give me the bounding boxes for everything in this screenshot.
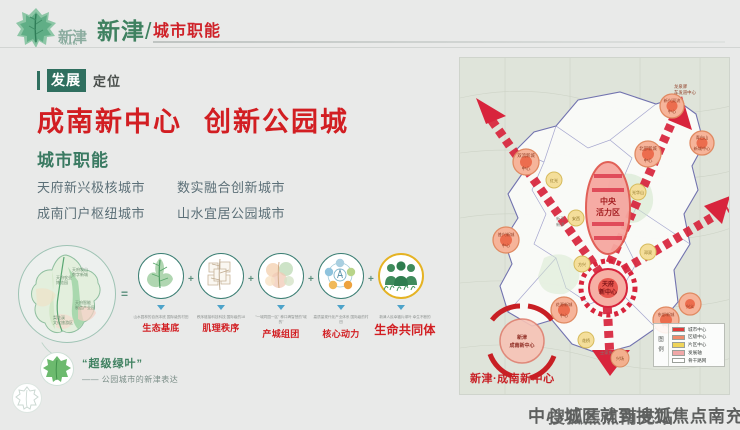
svg-text:新中心: 新中心	[599, 288, 617, 296]
legend-item: 片区中心	[672, 342, 722, 349]
node-caption: 秩序链接科技科技 国际级的18 肌理秩序	[193, 315, 249, 334]
svg-text:安西: 安西	[572, 215, 580, 221]
header-divider	[0, 47, 740, 48]
function-item: 成南门户枢纽城市	[37, 203, 177, 222]
svg-text:新津: 新津	[517, 334, 527, 341]
node-industry-city-cluster[interactable]	[258, 253, 304, 299]
caption-title: 核心动力	[313, 327, 369, 340]
svg-text:士家乡: 士家乡	[600, 349, 613, 355]
legend-rows: 城市中心 区级中心 片区中心 发展轴 骨干路网	[669, 324, 724, 366]
industry-cluster-icon	[259, 254, 301, 296]
caption-arrow-icon	[337, 305, 345, 310]
svg-text:中心: 中心	[668, 108, 677, 115]
legend-item: 区级中心	[672, 334, 722, 341]
legend-label: 发展轴	[688, 350, 702, 356]
svg-text:东部新城: 东部新城	[658, 311, 676, 318]
legend-item: 城市中心	[672, 326, 722, 333]
caption-detail: 山水园林的自然本底 国际级的村田	[133, 315, 189, 320]
function-item: 山水宜居公园城市	[177, 203, 337, 222]
svg-text:文化旅游区: 文化旅游区	[53, 319, 73, 325]
caption-arrow-icon	[157, 305, 165, 310]
logo-subtext: XINJIN	[62, 41, 78, 46]
svg-text:新津: 新津	[556, 221, 564, 228]
title-slash: /	[145, 18, 152, 44]
svg-text:中心: 中心	[502, 242, 511, 249]
caption-arrow-icon	[397, 305, 405, 310]
legend-item: 发展轴	[672, 349, 722, 356]
node-texture-order[interactable]	[198, 253, 244, 299]
map-legend: 图 例 城市中心 区级中心 片区中心 发展轴	[653, 323, 725, 367]
map-title: 新津·成南新中心	[470, 370, 555, 386]
svg-text:邓双: 邓双	[644, 249, 652, 255]
caption-title: 生命共同体	[371, 321, 439, 338]
headline-part-1: 成南新中心	[37, 107, 182, 137]
caption-arrow-icon	[217, 305, 225, 310]
svg-text:中心: 中心	[644, 157, 653, 164]
page-title: 新津/	[97, 12, 152, 46]
svg-text:光华山: 光华山	[632, 189, 644, 195]
caption-detail: 秩序链接科技科技 国际级的18	[193, 315, 249, 320]
plus-sign: +	[248, 274, 254, 285]
headline-part-2: 创新公园城	[204, 107, 349, 137]
river-network-icon	[139, 254, 181, 296]
svg-text:花源新城: 花源新城	[556, 301, 574, 308]
page-subtitle: 城市职能	[153, 17, 221, 41]
function-list: 天府新兴极核城市 数实融合创新城市 成南门户枢纽城市 山水宜居公园城市	[37, 177, 367, 222]
legend-header-char-1: 图	[658, 335, 664, 345]
svg-text:制造产业园: 制造产业园	[75, 304, 95, 310]
headline: 成南新中心创新公园城	[37, 100, 349, 139]
secondary-leaf-badge	[12, 383, 42, 413]
node-caption: 山水园林的自然本底 国际级的村田 生态基底	[133, 315, 189, 334]
badge-accent-bar	[37, 71, 40, 90]
svg-text:兴义: 兴义	[686, 303, 694, 309]
node-caption: "一城同园一区" 种口碑智慧的"城的" 产城组团	[253, 315, 309, 340]
svg-text:普兴新城: 普兴新城	[498, 231, 516, 238]
grid-texture-icon	[199, 254, 241, 296]
watermark-text-secondary: 搜狐焦点南充站	[548, 403, 674, 428]
svg-text:中央: 中央	[600, 196, 617, 206]
equals-sign: =	[121, 287, 128, 301]
super-leaf-subtitle: —— 公园城市的新津表达	[82, 374, 178, 385]
xinjin-territory-map-icon: 天府农业 博览园 天府牧山 数字新城 天府智能 制造产业园 梨花溪 文化旅游区	[22, 249, 114, 341]
caption-detail: "一城同园一区" 种口碑智慧的"城的"	[253, 315, 309, 326]
svg-text:龙泉驿: 龙泉驿	[674, 83, 688, 90]
svg-text:中心: 中心	[522, 165, 531, 172]
caption-detail: 高质量现代化产业体系 国际级的村田	[313, 315, 369, 326]
svg-text:花桥: 花桥	[582, 337, 590, 343]
legend-header-char-2: 例	[658, 345, 664, 355]
badge-label: 发展	[47, 69, 86, 92]
svg-text:青白山: 青白山	[696, 134, 709, 141]
leaf-logo-icon	[14, 6, 58, 50]
node-caption: 新津人民幸福片绿叶 幸生不断的 生命共同体	[371, 315, 439, 338]
badge-side-label: 定位	[93, 71, 121, 90]
legend-swatch	[672, 327, 685, 333]
svg-text:新城中心: 新城中心	[694, 145, 712, 152]
legend-header: 图 例	[654, 324, 669, 366]
svg-text:北部新城: 北部新城	[639, 145, 657, 152]
super-leaf-quote: “超级绿叶”	[82, 355, 143, 371]
svg-text:新兴双流: 新兴双流	[664, 97, 682, 104]
svg-text:红光: 红光	[550, 177, 558, 183]
node-core-power[interactable]	[318, 253, 364, 299]
watermark: 中心城区就到搜狐焦点南充站 搜狐焦点南充站	[520, 400, 740, 426]
svg-text:成南新中心: 成南新中心	[509, 342, 534, 349]
svg-text:方兴: 方兴	[578, 261, 586, 267]
legend-swatch	[672, 358, 685, 364]
svg-text:兴场: 兴场	[616, 355, 624, 361]
people-community-icon	[380, 255, 422, 297]
legend-swatch	[672, 350, 685, 356]
svg-text:新平: 新平	[556, 215, 564, 222]
caption-title: 产城组团	[253, 327, 309, 340]
legend-label: 骨干路网	[688, 358, 706, 364]
svg-text:数字新城: 数字新城	[72, 271, 88, 277]
svg-text:博览园: 博览园	[56, 279, 68, 285]
svg-text:双流新城: 双流新城	[517, 152, 535, 159]
plus-sign: +	[188, 274, 194, 285]
page-title-main: 新津	[97, 18, 145, 44]
caption-title: 生态基底	[133, 321, 189, 334]
slide-page: 新津 XINJIN 新津/ 城市职能 发展 定位 成南新中心创新公园城 城市职能…	[0, 0, 740, 430]
legend-swatch	[672, 342, 685, 348]
function-item: 天府新兴极核城市	[37, 177, 177, 196]
legend-label: 城市中心	[688, 327, 706, 333]
plus-sign: +	[368, 274, 374, 285]
outline-leaf-icon	[13, 384, 41, 412]
svg-text:中心: 中心	[560, 312, 569, 319]
development-badge: 发展 定位	[37, 69, 121, 92]
svg-text:活力区: 活力区	[596, 207, 620, 217]
page-header: 新津 XINJIN 新津/ 城市职能	[0, 0, 740, 52]
green-leaf-icon	[41, 353, 73, 385]
node-ecological-base[interactable]	[138, 253, 184, 299]
legend-label: 区级中心	[688, 334, 706, 340]
legend-label: 片区中心	[688, 342, 706, 348]
node-life-community[interactable]	[378, 253, 424, 299]
plus-sign: +	[308, 274, 314, 285]
section-title: 城市职能	[37, 146, 109, 171]
function-item: 数实融合创新城市	[177, 177, 337, 196]
legend-item: 骨干路网	[672, 357, 722, 364]
svg-text:天府: 天府	[602, 280, 614, 288]
caption-detail: 新津人民幸福片绿叶 幸生不断的	[371, 315, 439, 320]
caption-title: 肌理秩序	[193, 321, 249, 334]
planning-map[interactable]: 中央 活力区 天府 新中心 新津 成南新中心	[459, 57, 730, 395]
svg-text:车发道中心: 车发道中心	[674, 89, 697, 96]
header-rule	[153, 41, 725, 43]
node-caption: 高质量现代化产业体系 国际级的村田 核心动力	[313, 315, 369, 340]
brand-logo[interactable]: 新津 XINJIN	[14, 6, 100, 50]
caption-arrow-icon	[277, 305, 285, 310]
super-leaf-badge	[40, 352, 74, 386]
legend-swatch	[672, 335, 685, 341]
core-power-icon	[319, 254, 361, 296]
